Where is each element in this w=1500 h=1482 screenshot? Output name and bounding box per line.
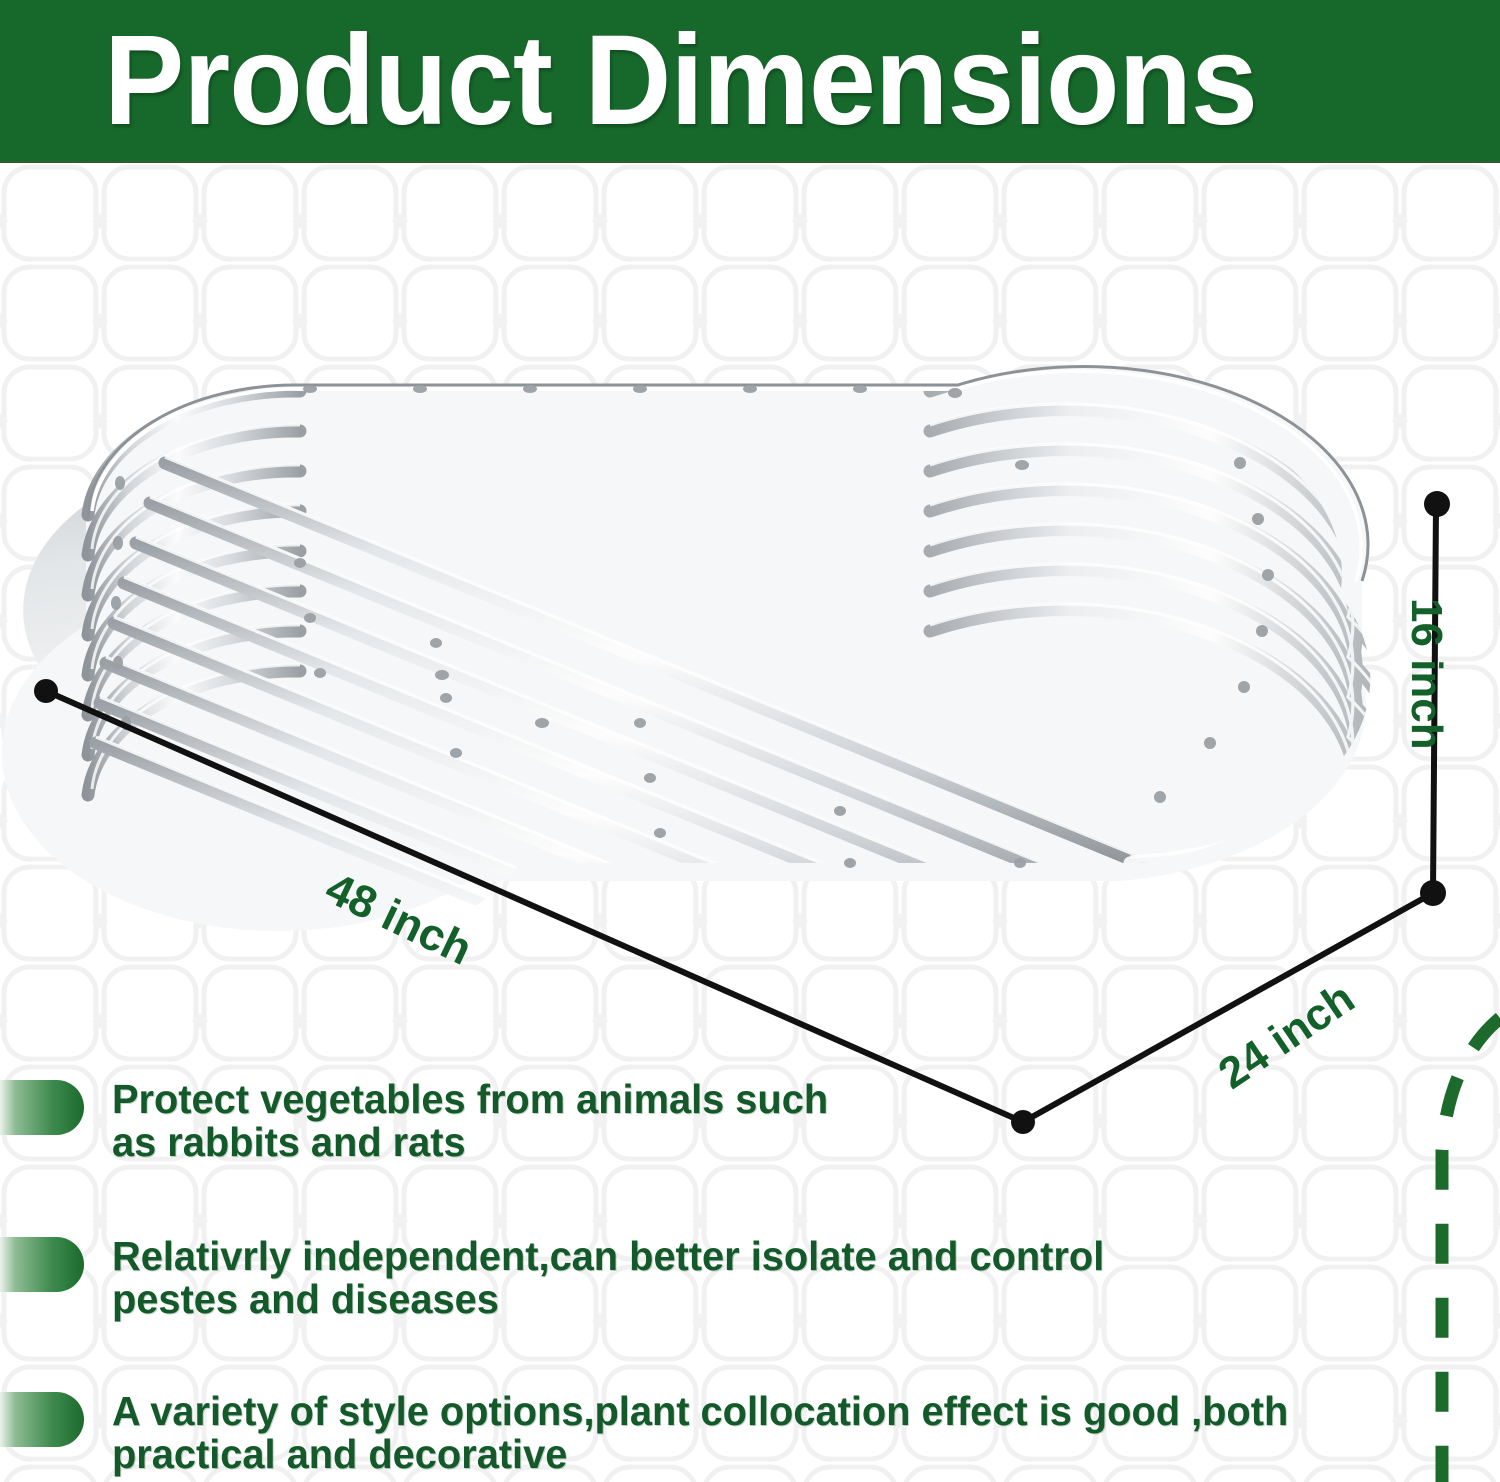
feature-line: Protect vegetables from animals such <box>112 1078 1400 1121</box>
list-item: Relativrly independent,can better isolat… <box>0 1235 1440 1321</box>
feature-line: Relativrly independent,can better isolat… <box>112 1235 1400 1278</box>
feature-text: A variety of style options,plant colloca… <box>112 1390 1400 1476</box>
feature-line: pestes and diseases <box>112 1278 1400 1321</box>
list-item: A variety of style options,plant colloca… <box>0 1390 1440 1476</box>
bullet-pill-icon <box>0 1080 84 1135</box>
feature-line: as rabbits and rats <box>112 1121 1400 1164</box>
bullet-pill-icon <box>0 1237 84 1292</box>
feature-text: Protect vegetables from animals such as … <box>112 1078 1400 1164</box>
page-title: Product Dimensions <box>104 14 1257 148</box>
header-banner: Product Dimensions <box>0 0 1500 163</box>
feature-line: A variety of style options,plant colloca… <box>112 1390 1400 1433</box>
list-item: Protect vegetables from animals such as … <box>0 1078 1440 1164</box>
feature-text: Relativrly independent,can better isolat… <box>112 1235 1400 1321</box>
dimension-label-height: 16 inch <box>1401 598 1451 750</box>
header-underline <box>0 161 1500 163</box>
product-dimensions-infographic: Product Dimensions <box>0 0 1500 1482</box>
feature-line: practical and decorative <box>112 1433 1400 1476</box>
bed-outer-wall <box>2 364 1398 1143</box>
bullet-pill-icon <box>0 1392 84 1447</box>
